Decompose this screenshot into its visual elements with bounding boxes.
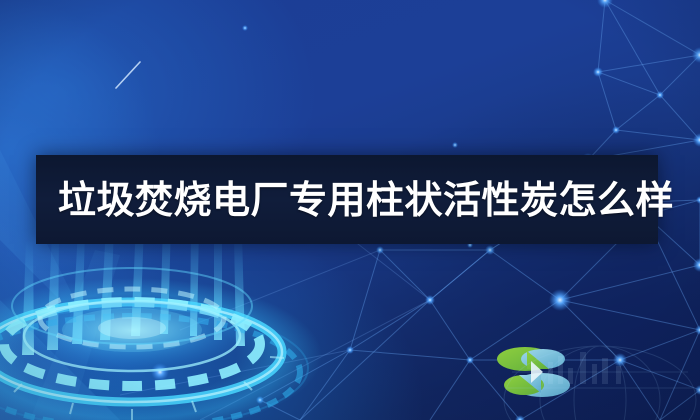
vignette-overlay [0,0,700,420]
banner-image: 垃圾焚烧电厂专用柱状活性炭怎么样 [0,0,700,420]
